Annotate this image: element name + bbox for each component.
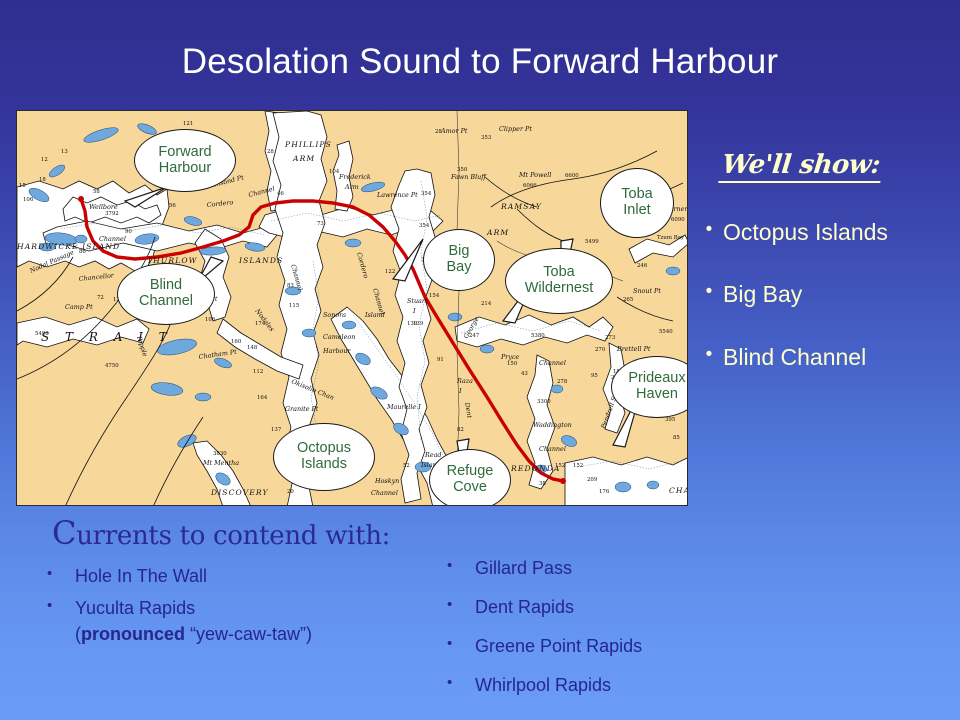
svg-text:5540: 5540 xyxy=(659,329,673,335)
svg-text:Read: Read xyxy=(424,451,442,459)
svg-text:I: I xyxy=(412,307,416,315)
list-item[interactable]: • Whirlpool Rapids xyxy=(440,672,840,698)
bullet-icon: • xyxy=(440,672,475,694)
svg-text:18: 18 xyxy=(39,177,46,183)
svg-text:174: 174 xyxy=(255,321,266,327)
callout-refuge-cove: Refuge Cove xyxy=(429,449,511,506)
callout-forward-harbour-label: Forward Harbour xyxy=(158,145,211,176)
bullet-icon: • xyxy=(440,633,475,655)
list-item[interactable]: • Dent Rapids xyxy=(440,594,840,620)
svg-text:5490: 5490 xyxy=(35,331,49,337)
svg-text:152: 152 xyxy=(555,463,565,469)
callout-toba-inlet-label: Toba Inlet xyxy=(621,187,652,218)
list-item[interactable]: • Gillard Pass xyxy=(440,555,840,581)
svg-text:3300: 3300 xyxy=(537,399,551,405)
svg-text:Mt Mentha: Mt Mentha xyxy=(202,459,239,467)
svg-text:Camp Pt: Camp Pt xyxy=(65,303,93,311)
svg-text:4750: 4750 xyxy=(105,363,119,369)
callout-toba-wildernest: Toba Wildernest xyxy=(505,248,613,314)
svg-text:Snout Pt: Snout Pt xyxy=(633,287,661,295)
svg-text:38: 38 xyxy=(539,481,546,487)
callout-blind-channel-label: Blind Channel xyxy=(139,278,193,309)
callout-big-bay-label: Big Bay xyxy=(447,244,472,275)
pronunciation-value: “yew-caw-taw”) xyxy=(185,624,312,644)
svg-text:DISCOVERY: DISCOVERY xyxy=(210,488,269,497)
pronounced-emphasis: pronounced xyxy=(81,624,185,644)
svg-text:28: 28 xyxy=(267,149,274,155)
svg-text:122: 122 xyxy=(385,269,395,275)
svg-text:354: 354 xyxy=(421,191,432,197)
svg-text:104: 104 xyxy=(329,169,340,175)
svg-text:354: 354 xyxy=(419,223,430,229)
svg-text:83: 83 xyxy=(287,283,294,289)
svg-text:58: 58 xyxy=(93,189,100,195)
svg-text:82: 82 xyxy=(457,427,464,433)
bullet-icon: • xyxy=(695,344,723,366)
svg-text:95: 95 xyxy=(591,373,598,379)
list-item[interactable]: • Octopus Islands xyxy=(695,219,960,245)
we-will-show-item-label: Octopus Islands xyxy=(723,219,888,245)
svg-text:43: 43 xyxy=(521,371,528,377)
we-will-show-item-label: Blind Channel xyxy=(723,344,866,370)
svg-text:246: 246 xyxy=(637,263,648,269)
svg-text:15: 15 xyxy=(19,183,26,189)
callout-toba-wildernest-label: Toba Wildernest xyxy=(525,265,594,296)
svg-text:353: 353 xyxy=(481,135,492,141)
svg-text:Waddington: Waddington xyxy=(533,421,572,429)
currents-heading: Currents to contend with: xyxy=(52,514,390,552)
svg-text:72: 72 xyxy=(97,295,104,301)
svg-text:Cameleon: Cameleon xyxy=(323,333,355,341)
current-item-label: Greene Point Rapids xyxy=(475,633,642,659)
bullet-icon: • xyxy=(440,555,475,577)
svg-text:PHILLIPS: PHILLIPS xyxy=(284,140,332,149)
svg-text:5499: 5499 xyxy=(585,239,599,245)
svg-text:Lawrence Pt: Lawrence Pt xyxy=(376,191,418,199)
we-will-show-heading: We'll show: xyxy=(718,150,883,183)
callout-blind-channel: Blind Channel xyxy=(117,263,215,325)
svg-text:160: 160 xyxy=(231,339,242,345)
we-will-show-panel: We'll show: • Octopus Islands • Big Bay … xyxy=(695,150,960,370)
svg-text:6066: 6066 xyxy=(523,183,537,189)
svg-text:Brettell Pt: Brettell Pt xyxy=(616,345,651,353)
svg-text:RAMSAY: RAMSAY xyxy=(500,202,542,211)
bullet-icon: • xyxy=(40,563,75,585)
bullet-icon: • xyxy=(695,281,723,303)
svg-text:Harbour: Harbour xyxy=(322,347,351,355)
svg-text:Stuart: Stuart xyxy=(407,297,428,305)
svg-text:Arm: Arm xyxy=(344,183,359,191)
svg-text:S T R A I T: S T R A I T xyxy=(41,330,173,344)
svg-text:Channel: Channel xyxy=(539,445,566,453)
svg-text:3830: 3830 xyxy=(213,451,227,457)
svg-text:46: 46 xyxy=(277,191,284,197)
svg-text:85: 85 xyxy=(673,435,680,441)
svg-text:350: 350 xyxy=(457,167,468,173)
svg-text:ARM: ARM xyxy=(292,154,315,163)
svg-text:73: 73 xyxy=(317,221,324,227)
bullet-icon: • xyxy=(440,594,475,616)
currents-column-right: • Gillard Pass • Dent Rapids • Greene Po… xyxy=(440,555,840,711)
svg-text:Amor Pt: Amor Pt xyxy=(440,127,468,135)
bullet-icon: • xyxy=(695,219,723,241)
svg-text:Granite Pt: Granite Pt xyxy=(285,405,319,413)
svg-text:Sonora: Sonora xyxy=(323,311,346,319)
svg-text:91: 91 xyxy=(437,357,444,363)
svg-text:Mt Powell: Mt Powell xyxy=(518,171,551,179)
svg-text:Tzum Bay: Tzum Bay xyxy=(657,235,685,241)
svg-text:176: 176 xyxy=(599,489,610,495)
svg-text:106: 106 xyxy=(23,197,34,203)
page-title: Desolation Sound to Forward Harbour xyxy=(0,42,960,82)
callout-prideaux-haven-label: Prideaux Haven xyxy=(628,371,685,402)
current-item-label: Yuculta Rapids (pronounced “yew-caw-taw”… xyxy=(75,595,312,647)
callout-toba-inlet: Toba Inlet xyxy=(600,168,674,238)
svg-text:265: 265 xyxy=(623,297,634,303)
svg-text:Maurelle I: Maurelle I xyxy=(386,403,421,411)
callout-big-bay: Big Bay xyxy=(423,229,495,291)
svg-text:137: 137 xyxy=(271,427,282,433)
svg-text:209: 209 xyxy=(587,477,598,483)
bullet-icon: • xyxy=(40,595,75,617)
svg-text:CHA: CHA xyxy=(669,486,688,495)
svg-text:Frederick: Frederick xyxy=(338,173,371,181)
current-item-label: Gillard Pass xyxy=(475,555,572,581)
nautical-chart-image: .land { fill:#f7d79a; } .water { fill:#f… xyxy=(16,110,688,506)
current-item-label: Dent Rapids xyxy=(475,594,574,620)
callout-forward-harbour: Forward Harbour xyxy=(134,129,236,192)
svg-text:Pryce: Pryce xyxy=(500,353,520,361)
svg-text:12: 12 xyxy=(41,157,48,163)
current-item-name: Yuculta Rapids xyxy=(75,598,195,618)
svg-text:90: 90 xyxy=(125,229,132,235)
svg-text:56: 56 xyxy=(169,203,176,209)
currents-heading-capital: C xyxy=(52,514,76,552)
list-item[interactable]: • Yuculta Rapids (pronounced “yew-caw-ta… xyxy=(40,595,430,647)
we-will-show-item-label: Big Bay xyxy=(723,281,802,307)
svg-text:270: 270 xyxy=(595,347,606,353)
svg-text:214: 214 xyxy=(481,301,492,307)
svg-text:Channel: Channel xyxy=(371,489,398,497)
svg-text:28: 28 xyxy=(435,129,442,135)
svg-text:Wellbore: Wellbore xyxy=(89,203,118,211)
svg-text:148: 148 xyxy=(247,345,258,351)
svg-text:ISLANDS: ISLANDS xyxy=(238,256,283,265)
list-item[interactable]: • Big Bay xyxy=(695,281,960,307)
list-item[interactable]: • Hole In The Wall xyxy=(40,563,430,589)
callout-octopus-islands: Octopus Islands xyxy=(273,423,375,491)
svg-text:Hoskyn: Hoskyn xyxy=(374,477,399,485)
svg-text:112: 112 xyxy=(253,369,263,375)
callout-octopus-islands-label: Octopus Islands xyxy=(297,441,351,472)
svg-text:5380: 5380 xyxy=(531,333,545,339)
list-item[interactable]: • Blind Channel xyxy=(695,344,960,370)
svg-text:20: 20 xyxy=(287,489,294,495)
svg-text:6600: 6600 xyxy=(565,173,579,179)
svg-text:86: 86 xyxy=(79,249,86,255)
svg-text:395: 395 xyxy=(665,417,676,423)
svg-text:273: 273 xyxy=(605,335,616,341)
svg-text:164: 164 xyxy=(257,395,268,401)
svg-text:52: 52 xyxy=(403,463,410,469)
svg-text:150: 150 xyxy=(507,361,518,367)
svg-text:Channel: Channel xyxy=(539,359,566,367)
svg-text:278: 278 xyxy=(557,379,568,385)
list-item[interactable]: • Greene Point Rapids xyxy=(440,633,840,659)
svg-text:121: 121 xyxy=(183,121,193,127)
callout-refuge-cove-label: Refuge Cove xyxy=(447,464,494,495)
currents-column-left: • Hole In The Wall • Yuculta Rapids (pro… xyxy=(40,563,430,653)
svg-text:13: 13 xyxy=(61,149,68,155)
svg-text:115: 115 xyxy=(289,303,300,309)
svg-text:3792: 3792 xyxy=(105,211,119,217)
svg-text:Fawn Bluff: Fawn Bluff xyxy=(450,173,487,181)
svg-text:6090: 6090 xyxy=(671,217,685,223)
svg-text:106: 106 xyxy=(205,317,216,323)
svg-text:139: 139 xyxy=(413,321,424,327)
svg-text:247: 247 xyxy=(469,333,480,339)
svg-text:I: I xyxy=(458,387,462,395)
svg-text:ARM: ARM xyxy=(486,228,509,237)
current-item-label: Hole In The Wall xyxy=(75,563,207,589)
svg-text:Clipper Pt: Clipper Pt xyxy=(499,125,532,133)
svg-text:Raza: Raza xyxy=(456,377,473,385)
svg-text:REDONDA: REDONDA xyxy=(510,464,561,473)
currents-heading-rest: urrents to contend with: xyxy=(76,521,390,551)
svg-text:152: 152 xyxy=(573,463,583,469)
svg-text:154: 154 xyxy=(429,293,440,299)
current-item-label: Whirlpool Rapids xyxy=(475,672,611,698)
